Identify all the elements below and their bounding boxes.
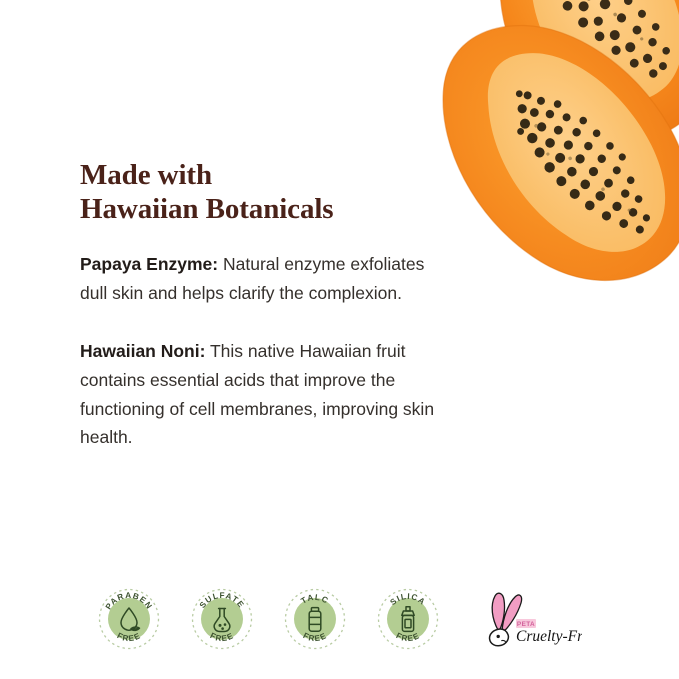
text-content-block: Made with Hawaiian Botanicals Papaya Enz… [80, 158, 440, 452]
certification-badge-row: PARABEN FREE [0, 579, 679, 659]
page-title: Made with Hawaiian Botanicals [80, 158, 440, 226]
cruelty-free-label: Cruelty-Free [516, 628, 582, 645]
badge-talc-free: TALC FREE [284, 588, 346, 650]
ingredient-name-papaya-enzyme: Papaya Enzyme: [80, 254, 218, 274]
peta-badge-text: PETA [516, 621, 534, 628]
ingredient-paragraph-papaya-enzyme: Papaya Enzyme: Natural enzyme exfoliates… [80, 250, 440, 307]
ingredient-paragraph-hawaiian-noni: Hawaiian Noni: This native Hawaiian frui… [80, 337, 440, 451]
page-title-line-2: Hawaiian Botanicals [80, 192, 440, 226]
ingredient-name-hawaiian-noni: Hawaiian Noni: [80, 341, 205, 361]
peta-wordmark-badge: PETA [516, 619, 536, 628]
badge-sulfate-free: SULFATE FREE [191, 588, 253, 650]
product-info-panel: Made with Hawaiian Botanicals Papaya Enz… [0, 0, 679, 679]
badge-silica-free: SILICA FREE [377, 588, 439, 650]
badge-paraben-free: PARABEN FREE [98, 588, 160, 650]
badge-disc [294, 598, 336, 640]
peta-cruelty-free-logo: PETA Cruelty-Free [478, 588, 582, 650]
page-title-line-1: Made with [80, 158, 440, 192]
